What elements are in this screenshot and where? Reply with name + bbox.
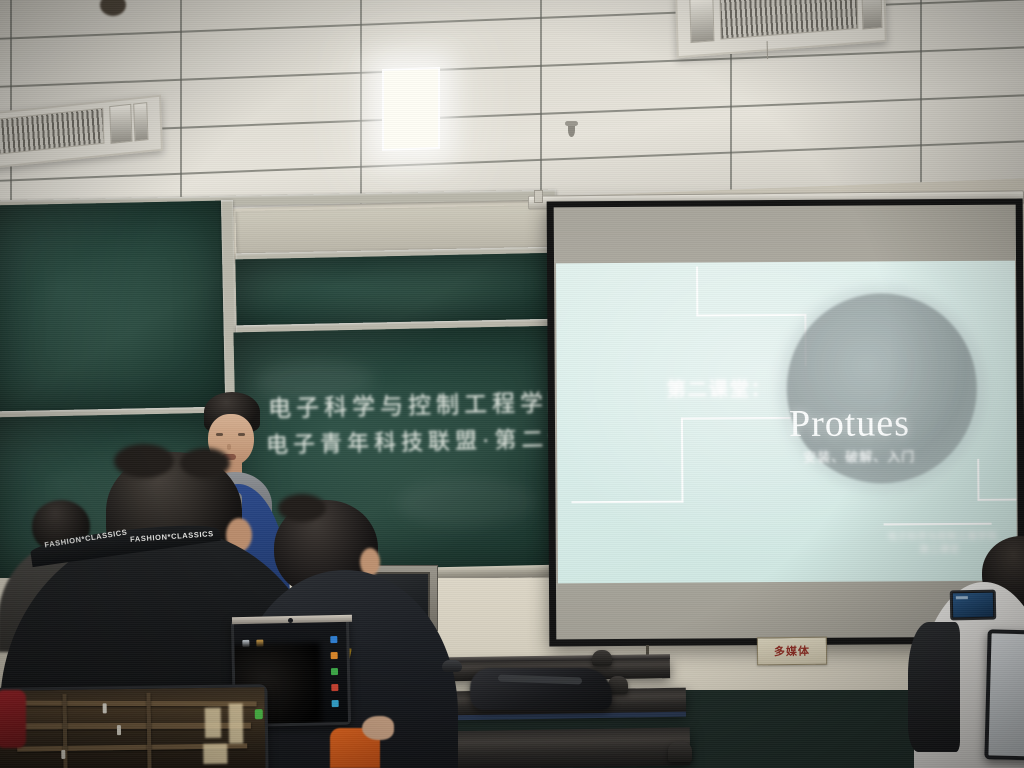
screen-bracket-left	[534, 190, 543, 203]
slide-deco-line-right-h	[977, 499, 1017, 501]
laptop-bottom-left[interactable]	[0, 684, 269, 768]
sidebar-icon-green[interactable]	[331, 668, 338, 675]
red-object-lower-left	[0, 690, 26, 748]
slide-subtitle: 安装、破解、入门	[803, 446, 915, 466]
desk-monitor-hump-2	[592, 650, 612, 666]
multimedia-room-sign: 多媒体	[757, 637, 827, 666]
sidebar-icon-cyan[interactable]	[332, 700, 339, 707]
sidebar-icon-orange[interactable]	[331, 652, 338, 659]
fire-sprinkler	[568, 124, 575, 137]
sidebar-icon-red[interactable]	[331, 684, 338, 691]
slide-kicker: 第二课堂：	[667, 374, 772, 402]
slide-title: Protues	[789, 401, 910, 446]
backpack-on-desk	[470, 668, 612, 710]
slide-deco-line-top-v	[696, 267, 698, 317]
laptop-bottom-left-screen[interactable]	[0, 687, 266, 768]
laptop-right-back[interactable]	[950, 590, 997, 621]
hand	[362, 716, 394, 740]
slide-deco-line-right-v	[977, 459, 979, 501]
computer-mouse[interactable]	[442, 660, 462, 672]
hoodie-black-panel	[908, 622, 960, 752]
blackboard-panel-left	[0, 201, 230, 418]
desk-monitor-hump-5	[668, 742, 692, 762]
laptop-center-webcam	[288, 618, 293, 623]
classroom-photo: 电子科学与控制工程学院 电子青年科技联盟·第二课堂	[0, 0, 1024, 768]
chalk-text-line-1: 电子科学与控制工程学院	[268, 383, 577, 423]
recessed-light-panel	[382, 67, 440, 151]
sidebar-icon-blue[interactable]	[330, 636, 337, 643]
multimedia-sign-label: 多媒体	[774, 643, 810, 659]
laptop-right-foreground[interactable]	[984, 629, 1024, 761]
